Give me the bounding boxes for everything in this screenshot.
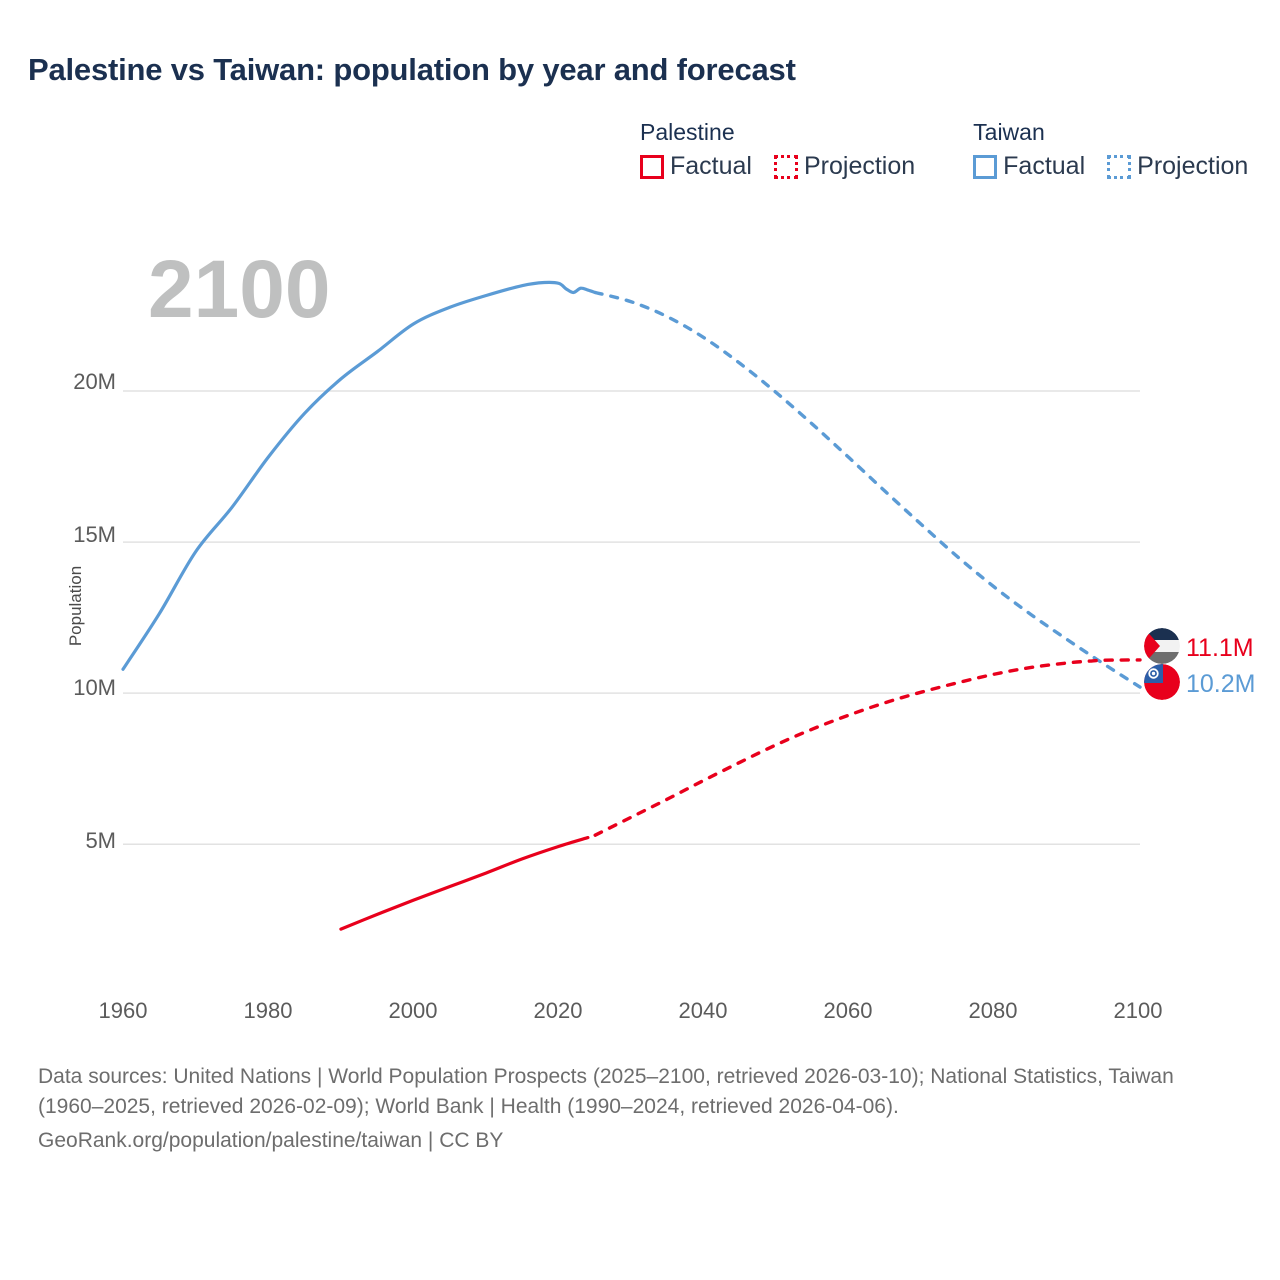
x-tick-label-2040: 2040 <box>658 1000 748 1022</box>
x-tick-label-2080: 2080 <box>948 1000 1038 1022</box>
x-tick-label-2020: 2020 <box>513 1000 603 1022</box>
x-tick-label-1980: 1980 <box>223 1000 313 1022</box>
footer-link[interactable]: GeoRank.org/population/palestine/taiwan … <box>38 1126 1243 1156</box>
series-taiwan-projection <box>595 292 1140 687</box>
gridlines <box>123 391 1140 844</box>
footer-sources: Data sources: United Nations | World Pop… <box>38 1062 1243 1122</box>
series-lines <box>123 282 1140 929</box>
taiwan-flag-icon <box>1144 664 1180 700</box>
chart-page: Palestine vs Taiwan: population by year … <box>0 0 1280 1280</box>
y-axis-title: Population <box>66 526 86 686</box>
palestine-end-value: 11.1M <box>1186 636 1254 661</box>
y-tick-label-10m: 10M <box>36 677 116 699</box>
taiwan-end-value: 10.2M <box>1186 672 1255 697</box>
series-palestine-factual <box>341 838 588 930</box>
x-tick-label-2100: 2100 <box>1093 1000 1183 1022</box>
series-taiwan-factual <box>123 282 595 669</box>
y-tick-label-20m: 20M <box>36 371 116 393</box>
footer: Data sources: United Nations | World Pop… <box>38 1062 1243 1155</box>
series-palestine-projection <box>595 660 1140 835</box>
x-tick-label-2000: 2000 <box>368 1000 458 1022</box>
x-tick-label-2060: 2060 <box>803 1000 893 1022</box>
palestine-flag-icon <box>1144 628 1180 664</box>
y-tick-label-5m: 5M <box>36 830 116 852</box>
x-tick-label-1960: 1960 <box>78 1000 168 1022</box>
y-tick-label-15m: 15M <box>36 524 116 546</box>
